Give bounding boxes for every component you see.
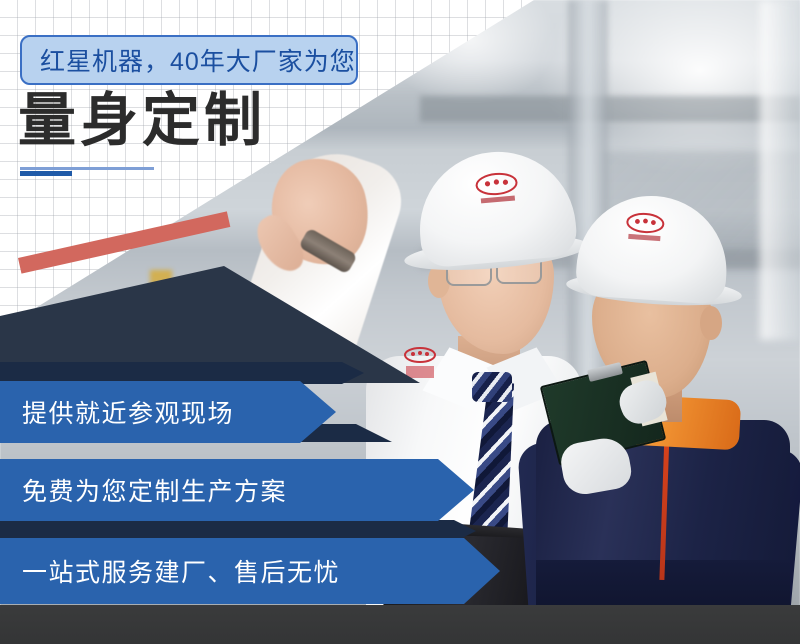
tagline-badge: 红星机器，40年大厂家为您 [20, 35, 358, 85]
feature-bar-2[interactable]: 免费为您定制生产方案 [0, 459, 474, 521]
tagline-badge-label: 红星机器，40年大厂家为您 [40, 42, 356, 78]
page-title: 量身定制 [18, 92, 266, 150]
title-underline-thin [20, 167, 154, 170]
worker-hardhat-logo-icon [623, 211, 667, 246]
hardhat-logo-icon [473, 170, 522, 208]
promo-banner: 红星机器，40年大厂家为您 量身定制 提供就近参观现场 免费为您定制生产方案 一… [0, 0, 800, 644]
title-underline-thick [20, 171, 72, 176]
engineer-tie-knot [472, 372, 512, 402]
feature-label-2: 免费为您定制生产方案 [22, 472, 287, 508]
footer-strip [0, 605, 800, 644]
feature-bar-3[interactable]: 一站式服务建厂、售后无忧 [0, 538, 500, 604]
worker-ear [700, 306, 722, 340]
feature-bar-shadow-top [0, 362, 364, 384]
factory-column-right [760, 0, 800, 340]
feature-label-1: 提供就近参观现场 [22, 394, 234, 430]
feature-label-3: 一站式服务建厂、售后无忧 [22, 553, 340, 589]
steel-beam-upper [420, 96, 800, 122]
feature-bar-1[interactable]: 提供就近参观现场 [0, 381, 336, 443]
